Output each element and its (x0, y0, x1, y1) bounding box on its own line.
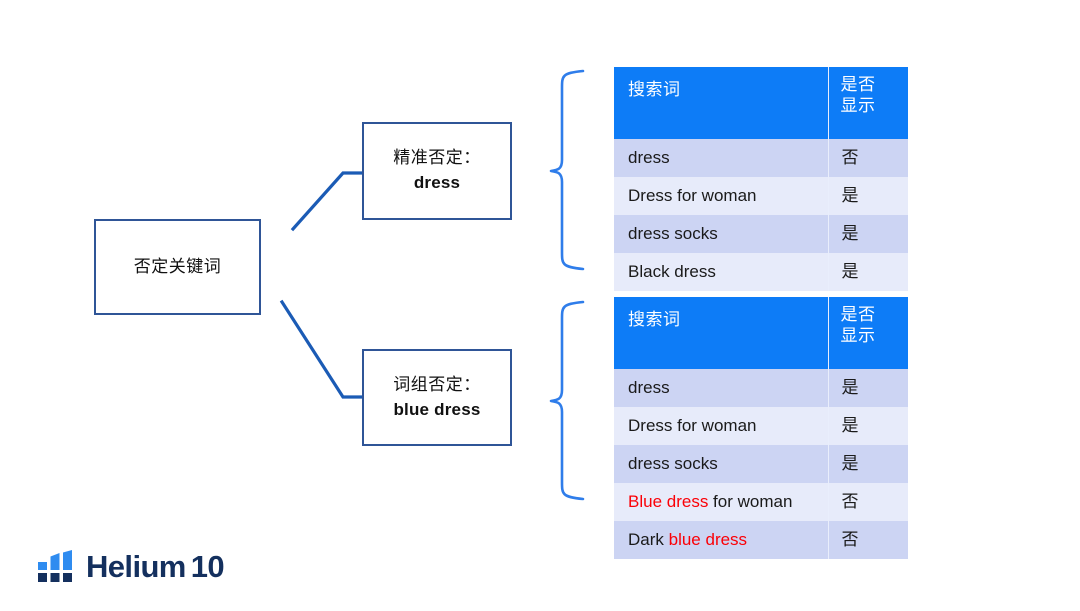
search-term-table-phrase: 搜索词 是否 显示 dress是Dress for woman是dress so… (614, 297, 908, 559)
connector-to-exact (293, 173, 362, 229)
cell-display-flag: 是 (828, 215, 908, 253)
column-header-display-flag: 是否 显示 (828, 297, 908, 369)
cell-display-flag: 是 (828, 445, 908, 483)
search-term-text: Dark (628, 530, 669, 549)
search-term-text: Black dress (628, 262, 716, 281)
column-header-display-flag: 是否 显示 (828, 67, 908, 139)
helium10-logo: Helium10 (38, 549, 224, 585)
table-row: dress否 (614, 139, 908, 177)
search-term-highlight: blue dress (669, 530, 747, 549)
cell-search-term: Black dress (614, 253, 828, 291)
cell-display-flag: 是 (828, 177, 908, 215)
diagram-box-exact-en-label: dress (414, 171, 460, 196)
logo-wordmark: Helium10 (86, 549, 224, 585)
search-term-text: dress (628, 148, 670, 167)
cell-search-term: dress (614, 139, 828, 177)
cell-display-flag: 否 (828, 139, 908, 177)
table-row: Dress for woman是 (614, 177, 908, 215)
brace-exact (551, 71, 583, 269)
table-row: dress是 (614, 369, 908, 407)
table-row: dress socks是 (614, 215, 908, 253)
cell-search-term: Blue dress for woman (614, 483, 828, 521)
table-header-row: 搜索词 是否 显示 (614, 297, 908, 369)
search-term-text: dress (628, 378, 670, 397)
diagram-box-root-label: 否定关键词 (134, 255, 222, 280)
cell-search-term: dress socks (614, 445, 828, 483)
bar-chart-icon (38, 550, 74, 584)
cell-display-flag: 是 (828, 407, 908, 445)
cell-display-flag: 是 (828, 369, 908, 407)
search-term-highlight: Blue dress (628, 492, 708, 511)
cell-display-flag: 否 (828, 521, 908, 559)
diagram-box-root: 否定关键词 (94, 219, 261, 315)
column-header-search-term: 搜索词 (614, 67, 828, 139)
slide-canvas: 否定关键词 精准否定： dress 词组否定： blue dress 搜索词 是… (0, 0, 1080, 611)
cell-search-term: Dark blue dress (614, 521, 828, 559)
cell-search-term: dress (614, 369, 828, 407)
search-term-text: for woman (708, 492, 792, 511)
cell-search-term: Dress for woman (614, 407, 828, 445)
table-header-row: 搜索词 是否 显示 (614, 67, 908, 139)
diagram-box-phrase-cn-label: 词组否定： (393, 373, 481, 398)
diagram-box-exact-negative: 精准否定： dress (362, 122, 512, 220)
search-term-text: dress socks (628, 454, 718, 473)
cell-search-term: dress socks (614, 215, 828, 253)
table-row: Dark blue dress否 (614, 521, 908, 559)
table-body-phrase: dress是Dress for woman是dress socks是Blue d… (614, 369, 908, 559)
diagram-box-exact-cn-label: 精准否定： (393, 146, 481, 171)
logo-number: 10 (191, 549, 224, 584)
diagram-box-phrase-negative: 词组否定： blue dress (362, 349, 512, 446)
table-body-exact: dress否Dress for woman是dress socks是Black … (614, 139, 908, 291)
search-term-table-exact: 搜索词 是否 显示 dress否Dress for woman是dress so… (614, 67, 908, 291)
table-row: Blue dress for woman否 (614, 483, 908, 521)
cell-display-flag: 是 (828, 253, 908, 291)
search-term-text: Dress for woman (628, 416, 756, 435)
connector-to-phrase (282, 302, 362, 397)
cell-search-term: Dress for woman (614, 177, 828, 215)
logo-name: Helium (86, 549, 186, 584)
table-header-exact: 搜索词 是否 显示 (614, 67, 908, 139)
diagram-box-phrase-en-label: blue dress (393, 398, 480, 423)
table-header-phrase: 搜索词 是否 显示 (614, 297, 908, 369)
brace-phrase (551, 302, 583, 499)
table-row: dress socks是 (614, 445, 908, 483)
table-row: Dress for woman是 (614, 407, 908, 445)
search-term-text: Dress for woman (628, 186, 756, 205)
search-term-text: dress socks (628, 224, 718, 243)
table-row: Black dress是 (614, 253, 908, 291)
cell-display-flag: 否 (828, 483, 908, 521)
column-header-search-term: 搜索词 (614, 297, 828, 369)
